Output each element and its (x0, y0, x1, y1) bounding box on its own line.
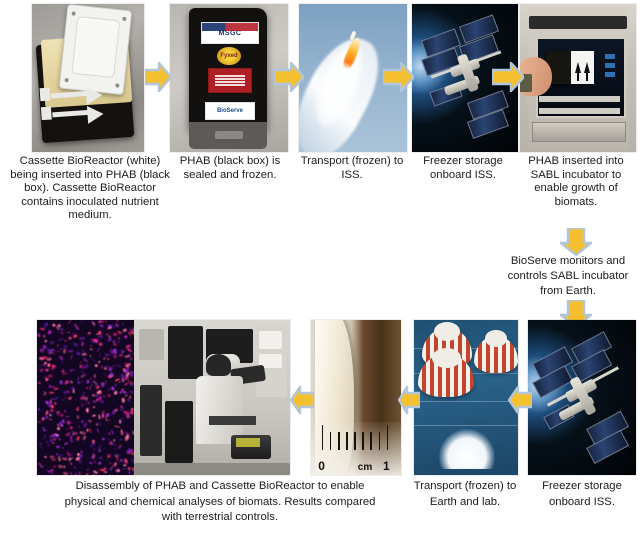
caption-cassette-insertion: Cassette BioReactor (white) being insert… (10, 155, 170, 223)
sabl-indicator-shape (605, 54, 615, 58)
arrow-decal-shape (39, 76, 106, 139)
ruler-label-0: 0 (318, 459, 325, 473)
arrow-right-step4-to-step5 (492, 62, 524, 92)
image-laboratory-microscope-photo (134, 320, 290, 475)
arrow-right-step3-to-step4 (383, 62, 414, 92)
image-sabl-incubator-insertion-photo (520, 4, 636, 152)
sabl-top-panel-shape (529, 16, 626, 29)
splashdown-shape (439, 429, 495, 469)
sabl-indicator-shape (605, 72, 615, 76)
sabl-shelf-shape (539, 96, 620, 102)
msgc-label: MSGC (201, 22, 260, 45)
caption-freezer-storage-iss: Freezer storage onboard ISS. (408, 155, 518, 182)
caption-disassembly-analysis: Disassembly of PHAB and Cassette BioReac… (60, 479, 380, 526)
sabl-indicator-shape (605, 63, 615, 67)
phab-handle-shape (215, 131, 243, 138)
image-biomat-with-ruler-photo: 0 cm 1 (311, 320, 401, 475)
microscope-body-shape (196, 376, 243, 444)
ruler-label-1: 1 (383, 459, 390, 473)
arrow-left-parachute-to-ruler (398, 386, 420, 414)
iss-structure-shape (528, 320, 636, 475)
red-warning-label (208, 68, 252, 94)
image-cassette-bioreactor-photo (32, 4, 144, 152)
parachute-shape (474, 336, 518, 373)
arrow-down-to-bioserve-note (560, 228, 592, 256)
note-bioserve-monitors: BioServe monitors and controls SABL incu… (496, 254, 640, 299)
image-capsule-splashdown-parachutes-photo (414, 320, 518, 475)
microscope-stage-shape (209, 416, 256, 425)
arrow-left-iss-to-parachute (508, 386, 532, 414)
fyxed-seal-text: Fyxed (220, 53, 237, 59)
image-biofilm-microscopy-photo (37, 320, 134, 475)
ruler-label-cm: cm (358, 462, 372, 473)
bioserve-label: BioServe (205, 102, 254, 120)
hand-shape (520, 57, 552, 95)
caption-phab-sealed: PHAB (black box) is sealed and frozen. (170, 155, 290, 182)
sabl-shelf-shape (539, 108, 620, 114)
caption-sabl-incubator: PHAB inserted into SABL incubator to ena… (514, 155, 638, 209)
caption-transport-to-earth: Transport (frozen) to Earth and lab. (406, 479, 524, 510)
caption-transport-to-iss: Transport (frozen) to ISS. (296, 155, 408, 182)
sabl-drawer-shape (532, 122, 627, 142)
up-arrow-decal (571, 51, 594, 84)
caption-freezer-storage-iss-return: Freezer storage onboard ISS. (528, 479, 636, 510)
biofilm-speckle-field (37, 320, 134, 475)
fyxed-seal-label: Fyxed (217, 47, 241, 65)
image-iss-in-orbit-photo-bottom (528, 320, 636, 475)
control-console-shape (231, 435, 272, 460)
arrow-right-step1-to-step2 (145, 62, 171, 92)
bioserve-label-text: BioServe (217, 108, 243, 114)
arrow-left-ruler-to-analysis (290, 386, 314, 414)
image-phab-black-box-photo: MSGC Fyxed BioServe (170, 4, 288, 152)
arrow-right-step2-to-step3 (274, 62, 304, 92)
